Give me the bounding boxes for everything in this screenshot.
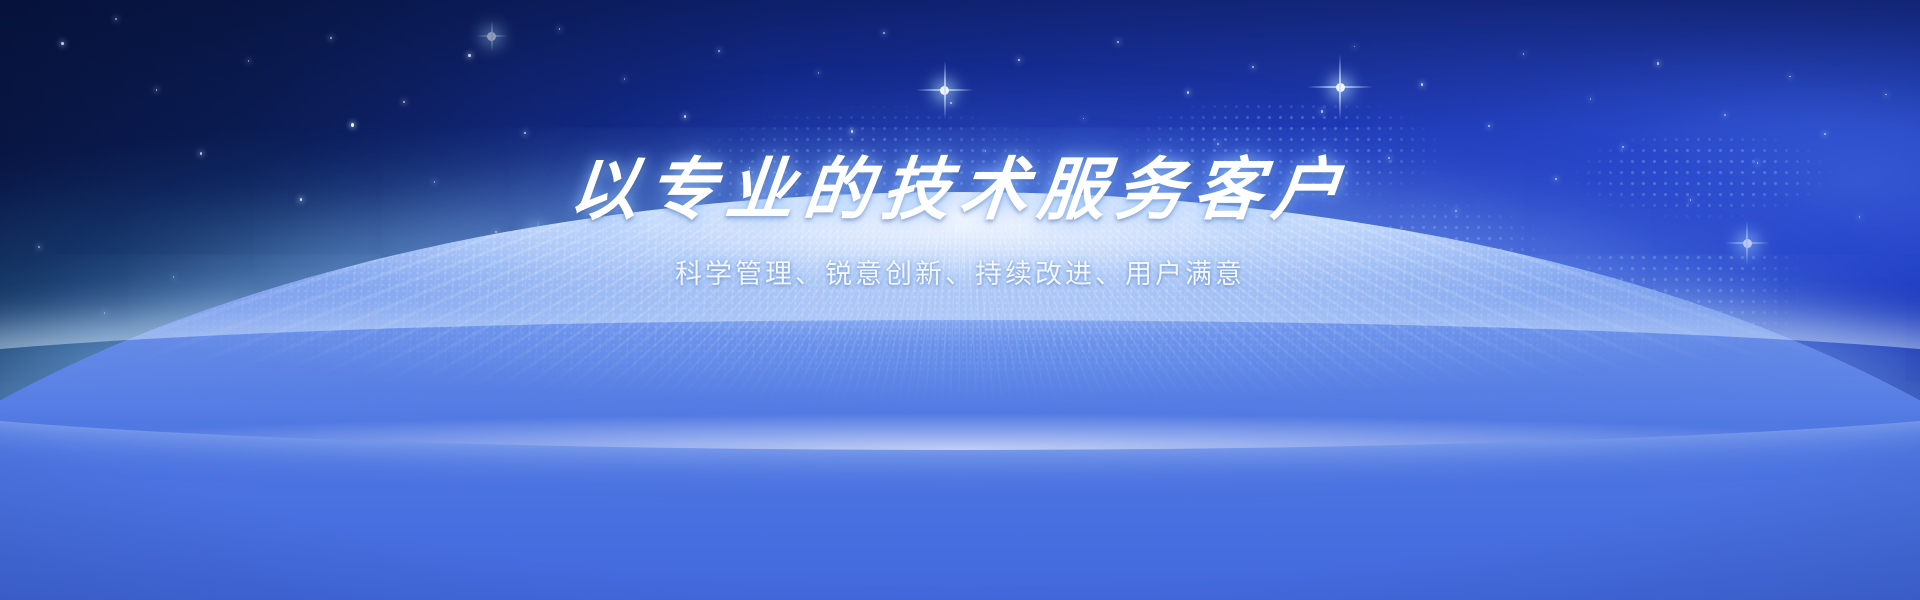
banner-subtitle: 科学管理、锐意创新、持续改进、用户满意 [0, 252, 1920, 291]
banner-headline: 以专业的技术服务客户 [0, 150, 1920, 230]
sparkle-core [487, 32, 496, 41]
sparkle-star-icon [477, 21, 507, 51]
sparkle-core [1336, 83, 1345, 92]
sparkle-star-icon [916, 61, 974, 119]
hero-banner: 以专业的技术服务客户 科学管理、锐意创新、持续改进、用户满意 [0, 0, 1920, 600]
horizon-rim-light [0, 320, 1920, 450]
banner-text-block: 以专业的技术服务客户 科学管理、锐意创新、持续改进、用户满意 [0, 150, 1920, 291]
sparkle-core [940, 86, 949, 95]
sparkle-star-icon [1307, 54, 1373, 120]
